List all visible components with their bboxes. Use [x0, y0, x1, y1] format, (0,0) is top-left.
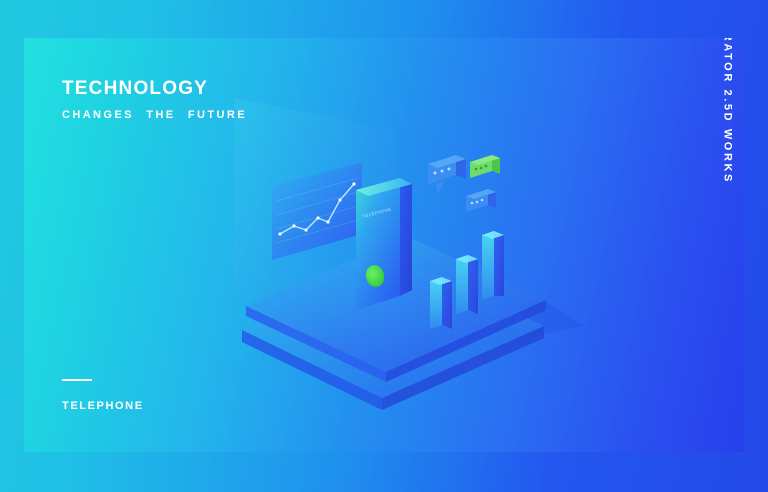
chat-bubble-small: [466, 189, 496, 212]
divider-rule: [62, 379, 92, 381]
phone: TELEPHONE: [356, 178, 412, 310]
bar-2: [456, 255, 478, 314]
footer-label: TELEPHONE: [62, 400, 144, 412]
bar-3: [482, 231, 504, 300]
vertical-credit-label: ILLUSTRATOR 2.5D WORKS: [721, 38, 733, 184]
chat-bubbles: [428, 155, 500, 212]
poster-card: TELEPHONE: [24, 38, 744, 452]
page-subtitle: CHANGES THE FUTURE: [62, 109, 247, 121]
poster-root: TELEPHONE: [0, 0, 768, 492]
page-title: TECHNOLOGY: [62, 78, 208, 100]
isometric-illustration: TELEPHONE: [24, 38, 744, 452]
chat-bubble-large: [428, 155, 466, 194]
chat-bubble-green: [470, 155, 500, 178]
bar-1: [430, 277, 452, 329]
